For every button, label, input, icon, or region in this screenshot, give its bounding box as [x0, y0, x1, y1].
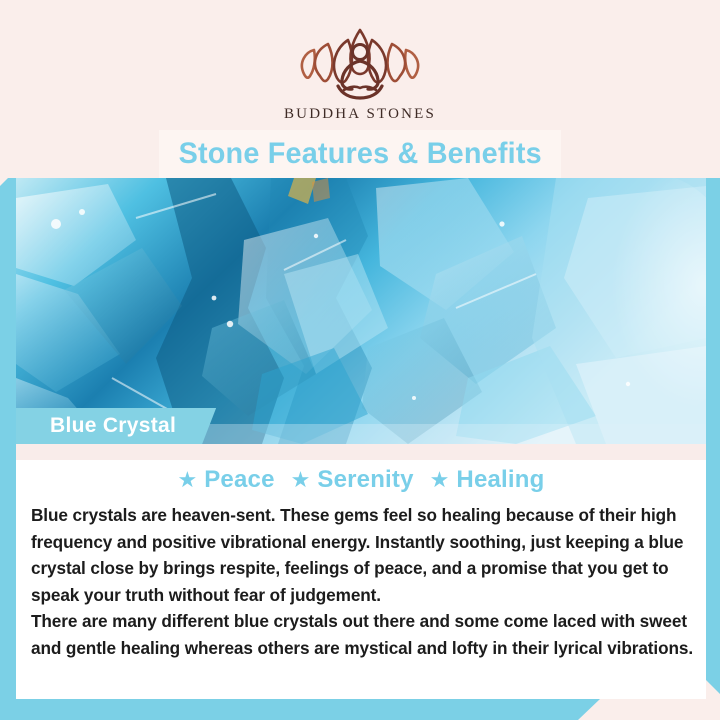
benefit-item-serenity: ★ Serenity — [291, 466, 414, 494]
star-icon: ★ — [291, 469, 311, 491]
decor-band-bottom — [0, 699, 600, 720]
blue-crystal-photo — [16, 178, 706, 444]
content-top-fade — [16, 444, 706, 460]
star-icon: ★ — [430, 469, 450, 491]
body-copy: Blue crystals are heaven-sent. These gem… — [31, 502, 693, 661]
hero-image: Blue Crystal — [16, 178, 706, 444]
benefit-item-healing: ★ Healing — [430, 466, 545, 494]
benefit-item-peace: ★ Peace — [177, 466, 274, 494]
benefit-label: Healing — [456, 466, 544, 494]
body-paragraph-2: There are many different blue crystals o… — [31, 608, 693, 661]
decor-band-left — [0, 170, 16, 704]
benefit-label: Peace — [204, 466, 274, 494]
lotus-meditation-icon — [280, 24, 440, 102]
body-paragraph-1: Blue crystals are heaven-sent. These gem… — [31, 502, 693, 608]
hero-caption-text: Blue Crystal — [50, 414, 176, 438]
infographic-page: BUDDHA STONES Stone Features & Benefits — [0, 0, 720, 720]
content-panel: ★ Peace ★ Serenity ★ Healing Blue crysta… — [16, 444, 706, 699]
star-icon: ★ — [177, 469, 197, 491]
page-title: Stone Features & Benefits — [178, 137, 541, 171]
brand-logo: BUDDHA STONES — [0, 24, 720, 123]
brand-name: BUDDHA STONES — [0, 106, 720, 123]
benefits-row: ★ Peace ★ Serenity ★ Healing — [16, 466, 706, 494]
title-banner: Stone Features & Benefits — [159, 130, 561, 178]
hero-caption: Blue Crystal — [16, 408, 216, 444]
benefit-label: Serenity — [317, 466, 413, 494]
